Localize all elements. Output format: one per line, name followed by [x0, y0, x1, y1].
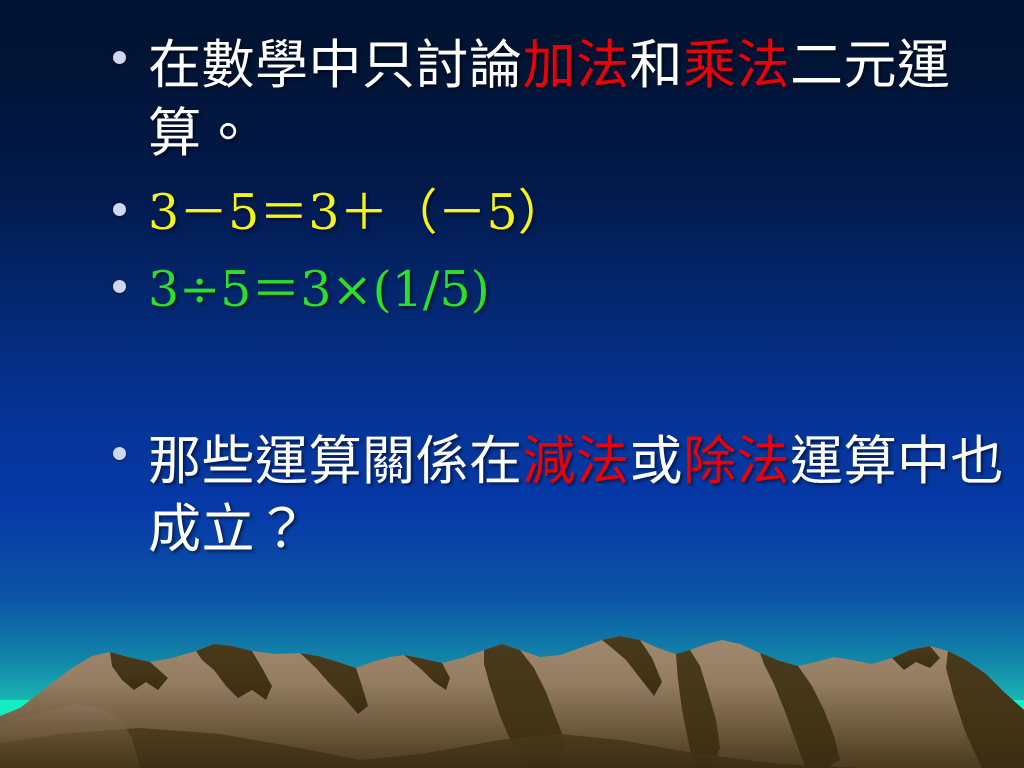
bullet-marker-icon — [113, 203, 126, 216]
run-text: 那些運算關係在 — [148, 431, 523, 492]
bullet-text-question: 那些運算關係在減法或除法運算中也成立？ — [148, 428, 1024, 564]
bullet-text-binary-operations: 在數學中只討論加法和乘法二元運算。 — [148, 32, 1024, 168]
run-text: 和 — [630, 35, 684, 96]
equation-subtraction: 3－5＝3＋（－5） — [148, 183, 1024, 243]
presentation-slide: 在數學中只討論加法和乘法二元運算。 3－5＝3＋（－5） 3÷5＝3×(1/5)… — [0, 0, 1024, 768]
run-text-highlight: 除法 — [683, 431, 790, 492]
run-text-highlight: 乘法 — [683, 35, 790, 96]
run-text-highlight: 減法 — [523, 431, 630, 492]
run-text-equation: 3÷5＝3×(1/5) — [148, 261, 490, 318]
bullet-marker-icon — [113, 447, 126, 460]
run-text-highlight: 加法 — [523, 35, 630, 96]
run-text-equation: 3－5＝3＋（－5） — [148, 184, 567, 241]
bullet-marker-icon — [113, 51, 126, 64]
run-text: 在數學中只討論 — [148, 35, 523, 96]
equation-division: 3÷5＝3×(1/5) — [148, 260, 1024, 320]
bullet-marker-icon — [113, 280, 126, 293]
slide-body: 在數學中只討論加法和乘法二元運算。 3－5＝3＋（－5） 3÷5＝3×(1/5)… — [0, 0, 1024, 768]
run-text: 或 — [630, 431, 684, 492]
